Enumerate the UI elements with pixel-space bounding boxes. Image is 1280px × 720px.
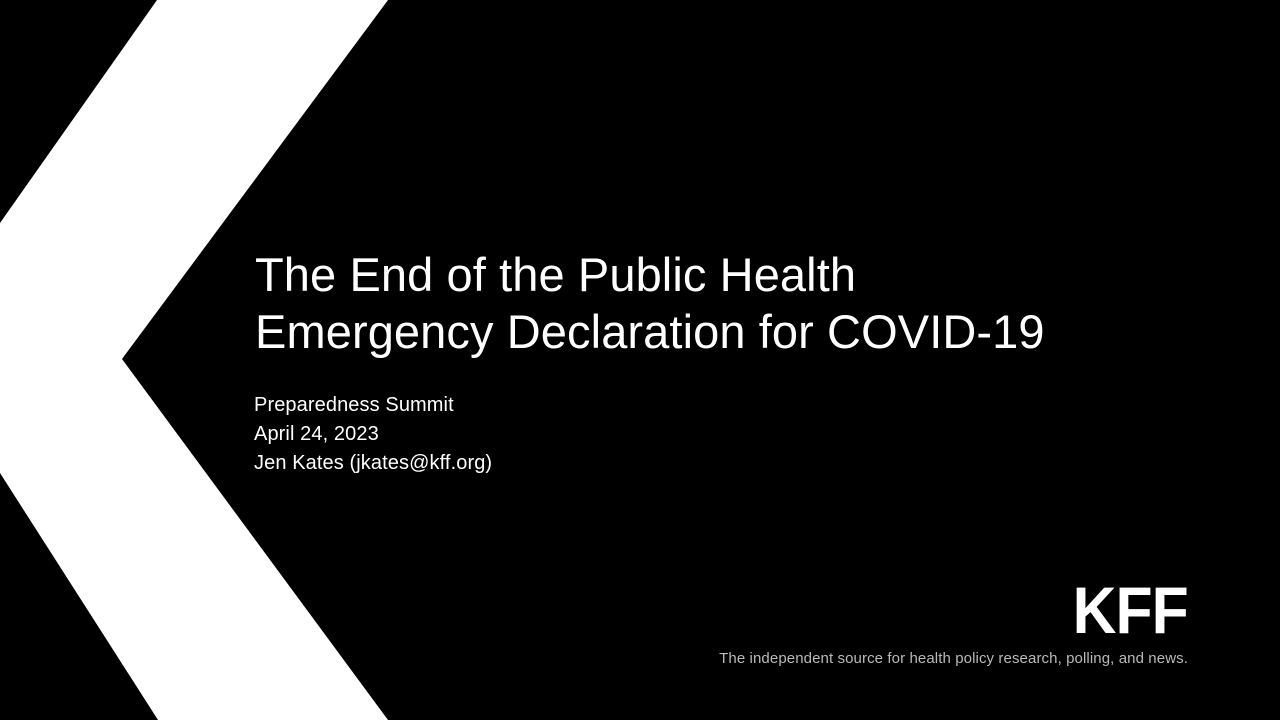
- title-slide: The End of the Public Health Emergency D…: [0, 0, 1280, 720]
- kff-tagline: The independent source for health policy…: [719, 650, 1188, 668]
- subtitle-date: April 24, 2023: [254, 420, 954, 449]
- page-title: The End of the Public Health Emergency D…: [255, 246, 1085, 360]
- chevron-shape: [0, 0, 388, 720]
- subtitle-block: Preparedness Summit April 24, 2023 Jen K…: [254, 391, 954, 478]
- subtitle-event: Preparedness Summit: [254, 391, 954, 420]
- kff-logo: KFF: [757, 584, 1188, 636]
- branding-block: KFF The independent source for health po…: [719, 584, 1188, 668]
- subtitle-presenter: Jen Kates (jkates@kff.org): [254, 449, 954, 478]
- title-block: The End of the Public Health Emergency D…: [255, 246, 1085, 360]
- chevron-graphic: [0, 0, 400, 720]
